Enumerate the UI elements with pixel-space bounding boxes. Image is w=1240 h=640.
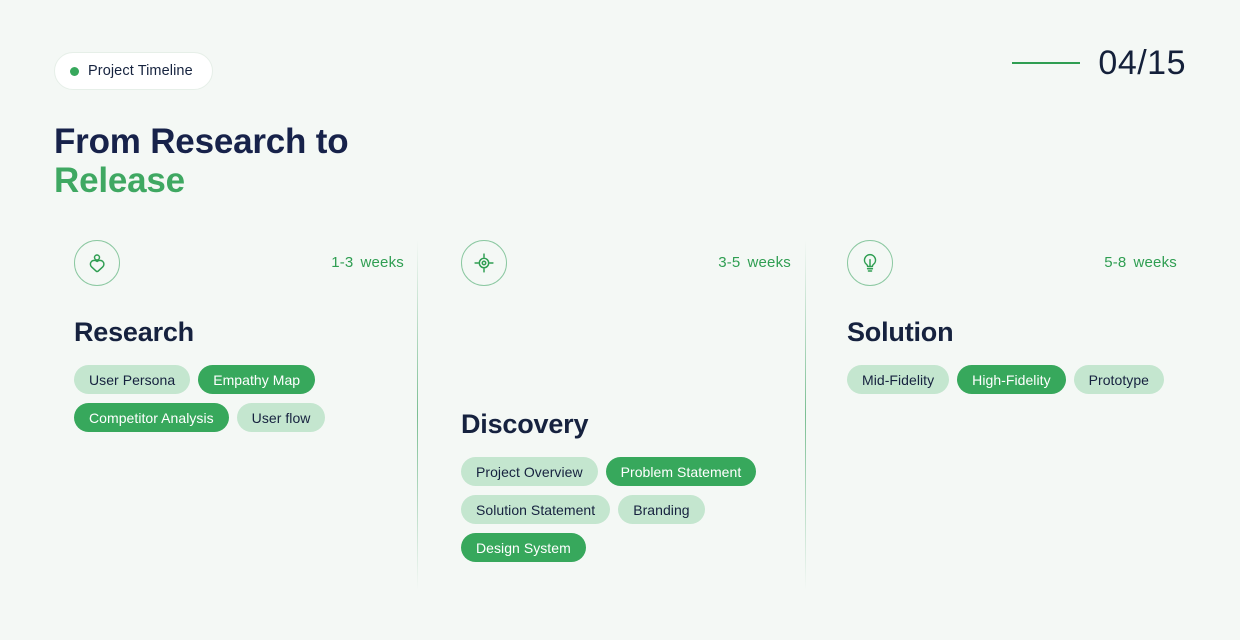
tag-item[interactable]: Problem Statement <box>606 457 757 486</box>
tag-item[interactable]: Mid-Fidelity <box>847 365 949 394</box>
phase-duration-unit: weeks <box>747 254 791 271</box>
column-divider-1 <box>417 240 418 590</box>
user-persona-icon <box>74 240 120 286</box>
phase-tag-list: Project Overview Problem Statement Solut… <box>461 457 791 562</box>
page-number: 04/15 <box>1098 46 1186 80</box>
phase-duration-range: 5-8 <box>1104 254 1126 271</box>
page-rule-divider <box>1012 62 1080 64</box>
badge-label: Project Timeline <box>88 63 193 79</box>
page-indicator: 04/15 <box>1012 46 1186 80</box>
status-dot-icon <box>70 67 79 76</box>
tag-item[interactable]: User Persona <box>74 365 190 394</box>
slide-root: Project Timeline 04/15 From Research to … <box>0 0 1240 640</box>
phase-duration-range: 1-3 <box>331 254 353 271</box>
phase-tag-list: Mid-Fidelity High-Fidelity Prototype <box>847 365 1177 394</box>
phase-title: Research <box>74 319 404 346</box>
timeline-phase-solution: 5-8weeks Solution Mid-Fidelity High-Fide… <box>847 240 1177 394</box>
target-crosshair-icon <box>461 240 507 286</box>
page-title-line-1: From Research to <box>54 122 348 161</box>
phase-title: Discovery <box>461 411 791 438</box>
tag-item[interactable]: Design System <box>461 533 586 562</box>
timeline-columns: 1-3weeks Research User Persona Empathy M… <box>0 240 1240 590</box>
tag-item[interactable]: High-Fidelity <box>957 365 1065 394</box>
phase-duration: 1-3weeks <box>331 254 404 271</box>
timeline-phase-research: 1-3weeks Research User Persona Empathy M… <box>74 240 404 432</box>
phase-header: 5-8weeks <box>847 240 1177 288</box>
column-divider-2 <box>805 240 806 590</box>
page-title-line-2: Release <box>54 161 348 200</box>
phase-tag-list: User Persona Empathy Map Competitor Anal… <box>74 365 404 432</box>
phase-body: Research User Persona Empathy Map Compet… <box>74 288 404 432</box>
tag-item[interactable]: Solution Statement <box>461 495 610 524</box>
phase-header: 3-5weeks <box>461 240 791 288</box>
phase-duration-range: 3-5 <box>718 254 740 271</box>
timeline-phase-discovery: 3-5weeks Discovery Project Overview Prob… <box>461 240 791 562</box>
phase-body: Discovery Project Overview Problem State… <box>461 288 791 562</box>
slide-topbar: Project Timeline 04/15 <box>54 52 1186 94</box>
phase-duration-unit: weeks <box>360 254 404 271</box>
phase-body: Solution Mid-Fidelity High-Fidelity Prot… <box>847 288 1177 394</box>
tag-item[interactable]: Empathy Map <box>198 365 315 394</box>
tag-item[interactable]: Project Overview <box>461 457 598 486</box>
project-timeline-badge: Project Timeline <box>54 52 213 90</box>
phase-header: 1-3weeks <box>74 240 404 288</box>
tag-item[interactable]: User flow <box>237 403 326 432</box>
page-title: From Research to Release <box>54 122 348 200</box>
tag-item[interactable]: Branding <box>618 495 704 524</box>
tag-item[interactable]: Prototype <box>1074 365 1164 394</box>
phase-duration-unit: weeks <box>1133 254 1177 271</box>
tag-item[interactable]: Competitor Analysis <box>74 403 229 432</box>
phase-duration: 3-5weeks <box>718 254 791 271</box>
phase-title: Solution <box>847 319 1177 346</box>
phase-duration: 5-8weeks <box>1104 254 1177 271</box>
lightbulb-icon <box>847 240 893 286</box>
